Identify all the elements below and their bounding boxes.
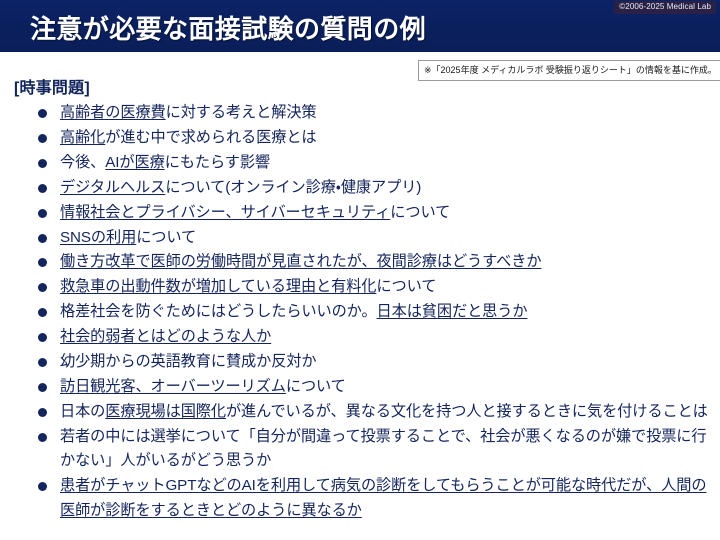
text-run-underlined: 高齢化 xyxy=(60,129,105,146)
bullet-circle-icon xyxy=(38,482,47,491)
slide-header-bar: 注意が必要な面接試験の質問の例 ©2006-2025 Medical Lab xyxy=(0,0,720,52)
list-item-text: デジタルヘルスについて(オンライン診療・健康アプリ) xyxy=(60,176,720,200)
list-item: 幼少期からの英語教育に賛成か反対か xyxy=(36,350,720,374)
text-run-underlined: デジタルヘルス xyxy=(60,179,165,196)
list-item-text: 幼少期からの英語教育に賛成か反対か xyxy=(60,350,720,374)
list-item-text: 情報社会とプライバシー、サイバーセキュリティについて xyxy=(60,201,720,225)
list-item: デジタルヘルスについて(オンライン診療・健康アプリ) xyxy=(36,176,720,200)
question-list: 高齢者の医療費に対する考えと解決策高齢化が進む中で求められる医療とは今後、AIが… xyxy=(0,101,720,523)
list-item: 若者の中には選挙について「自分が間違って投票することで、社会が悪くなるのが嫌で投… xyxy=(36,425,708,474)
list-item-text: 社会的弱者とはどのような人か xyxy=(60,325,720,349)
text-run-underlined: 高齢者の医療費 xyxy=(60,104,166,121)
text-run-plain: が進んでいるが、異なる文化を持つ人と接するときに気を付けることは xyxy=(226,403,708,420)
text-run-plain: について xyxy=(376,278,436,295)
text-run-plain: にもたらす影響 xyxy=(165,154,270,171)
bullet-circle-icon xyxy=(38,234,47,243)
text-run-plain: について(オンライン診療・健康アプリ) xyxy=(165,179,421,196)
text-run-underlined: SNSの利用 xyxy=(60,229,136,246)
bullet-circle-icon xyxy=(38,184,47,193)
list-item-text: 訪日観光客、オーバーツーリズムについて xyxy=(60,375,720,399)
page-title: 注意が必要な面接試験の質問の例 xyxy=(30,9,426,46)
list-item-text: 救急車の出動件数が増加している理由と有料化について xyxy=(60,275,720,299)
bullet-circle-icon xyxy=(38,333,47,342)
bullet-circle-icon xyxy=(38,283,47,292)
bullet-circle-icon xyxy=(38,109,47,118)
list-item-text: 高齢者の医療費に対する考えと解決策 xyxy=(60,101,720,125)
text-run-underlined: 日本は貧困だと思うか xyxy=(377,303,528,320)
text-run-plain: 日本の xyxy=(60,403,105,420)
text-run-plain: が進む中で求められる医療とは xyxy=(105,129,316,146)
text-run-plain: 今後、 xyxy=(60,154,105,171)
bullet-circle-icon xyxy=(38,134,47,143)
list-item-text: 若者の中には選挙について「自分が間違って投票することで、社会が悪くなるのが嫌で投… xyxy=(60,425,708,474)
text-run-plain: について xyxy=(286,378,346,395)
list-item-text: 働き方改革で医師の労働時間が見直されたが、夜間診療はどうすべきか xyxy=(60,250,720,274)
text-run-plain: について xyxy=(136,229,196,246)
list-item-text: 今後、AIが医療にもたらす影響 xyxy=(60,151,720,175)
text-run-underlined: AIが医療 xyxy=(105,154,164,171)
text-run-plain: 若者の中には選挙について「自分が間違って投票することで、社会が悪くなるのが嫌で投… xyxy=(60,428,706,469)
text-run-plain: について xyxy=(390,204,450,221)
bullet-circle-icon xyxy=(38,358,47,367)
list-item: 働き方改革で医師の労働時間が見直されたが、夜間診療はどうすべきか xyxy=(36,250,720,274)
list-item-text: 日本の医療現場は国際化が進んでいるが、異なる文化を持つ人と接するときに気を付ける… xyxy=(60,400,708,424)
text-run-underlined: 訪日観光客、オーバーツーリズム xyxy=(60,378,286,395)
list-item: 訪日観光客、オーバーツーリズムについて xyxy=(36,375,720,399)
text-run-underlined: 社会的弱者とはどのような人か xyxy=(60,328,271,345)
list-item: 患者がチャットGPTなどのAIを利用して病気の診断をしてもらうことが可能な時代だ… xyxy=(36,474,708,523)
text-run-underlined: 働き方改革で医師の労働時間が見直されたが、夜間診療はどうすべきか xyxy=(60,253,541,270)
list-item: 救急車の出動件数が増加している理由と有料化について xyxy=(36,275,720,299)
text-run-underlined: 救急車の出動件数が増加している理由と有料化 xyxy=(60,278,376,295)
bullet-circle-icon xyxy=(38,433,47,442)
list-item: SNSの利用について xyxy=(36,226,720,250)
list-item: 高齢者の医療費に対する考えと解決策 xyxy=(36,101,720,125)
bullet-circle-icon xyxy=(38,159,47,168)
bullet-circle-icon xyxy=(38,209,47,218)
list-item: 社会的弱者とはどのような人か xyxy=(36,325,720,349)
bullet-circle-icon xyxy=(38,383,47,392)
list-item-text: 格差社会を防ぐためにはどうしたらいいのか。日本は貧困だと思うか xyxy=(60,300,720,324)
section-heading: [時事問題] xyxy=(14,74,720,98)
list-item: 今後、AIが医療にもたらす影響 xyxy=(36,151,720,175)
text-run-plain: 格差社会を防ぐためにはどうしたらいいのか。 xyxy=(60,303,377,320)
list-item: 情報社会とプライバシー、サイバーセキュリティについて xyxy=(36,201,720,225)
text-run-underlined: 患者がチャットGPTなどのAIを利用して病気の診断をしてもらうことが可能な時代だ… xyxy=(60,477,706,518)
list-item-text: SNSの利用について xyxy=(60,226,720,250)
list-item: 格差社会を防ぐためにはどうしたらいいのか。日本は貧困だと思うか xyxy=(36,300,720,324)
slide-body: [時事問題] 高齢者の医療費に対する考えと解決策高齢化が進む中で求められる医療と… xyxy=(0,52,720,523)
list-item-text: 高齢化が進む中で求められる医療とは xyxy=(60,126,720,150)
list-item: 日本の医療現場は国際化が進んでいるが、異なる文化を持つ人と接するときに気を付ける… xyxy=(36,400,708,424)
text-run-plain: に対する考えと解決策 xyxy=(166,104,317,121)
list-item: 高齢化が進む中で求められる医療とは xyxy=(36,126,720,150)
copyright-notice: ©2006-2025 Medical Lab xyxy=(614,1,716,14)
text-run-underlined: 情報社会とプライバシー、サイバーセキュリティ xyxy=(60,204,390,221)
bullet-circle-icon xyxy=(38,308,47,317)
bullet-circle-icon xyxy=(38,258,47,267)
list-item-text: 患者がチャットGPTなどのAIを利用して病気の診断をしてもらうことが可能な時代だ… xyxy=(60,474,708,523)
bullet-circle-icon xyxy=(38,408,47,417)
text-run-underlined: 医療現場は国際化 xyxy=(105,403,226,420)
text-run-plain: 幼少期からの英語教育に賛成か反対か xyxy=(60,353,317,370)
